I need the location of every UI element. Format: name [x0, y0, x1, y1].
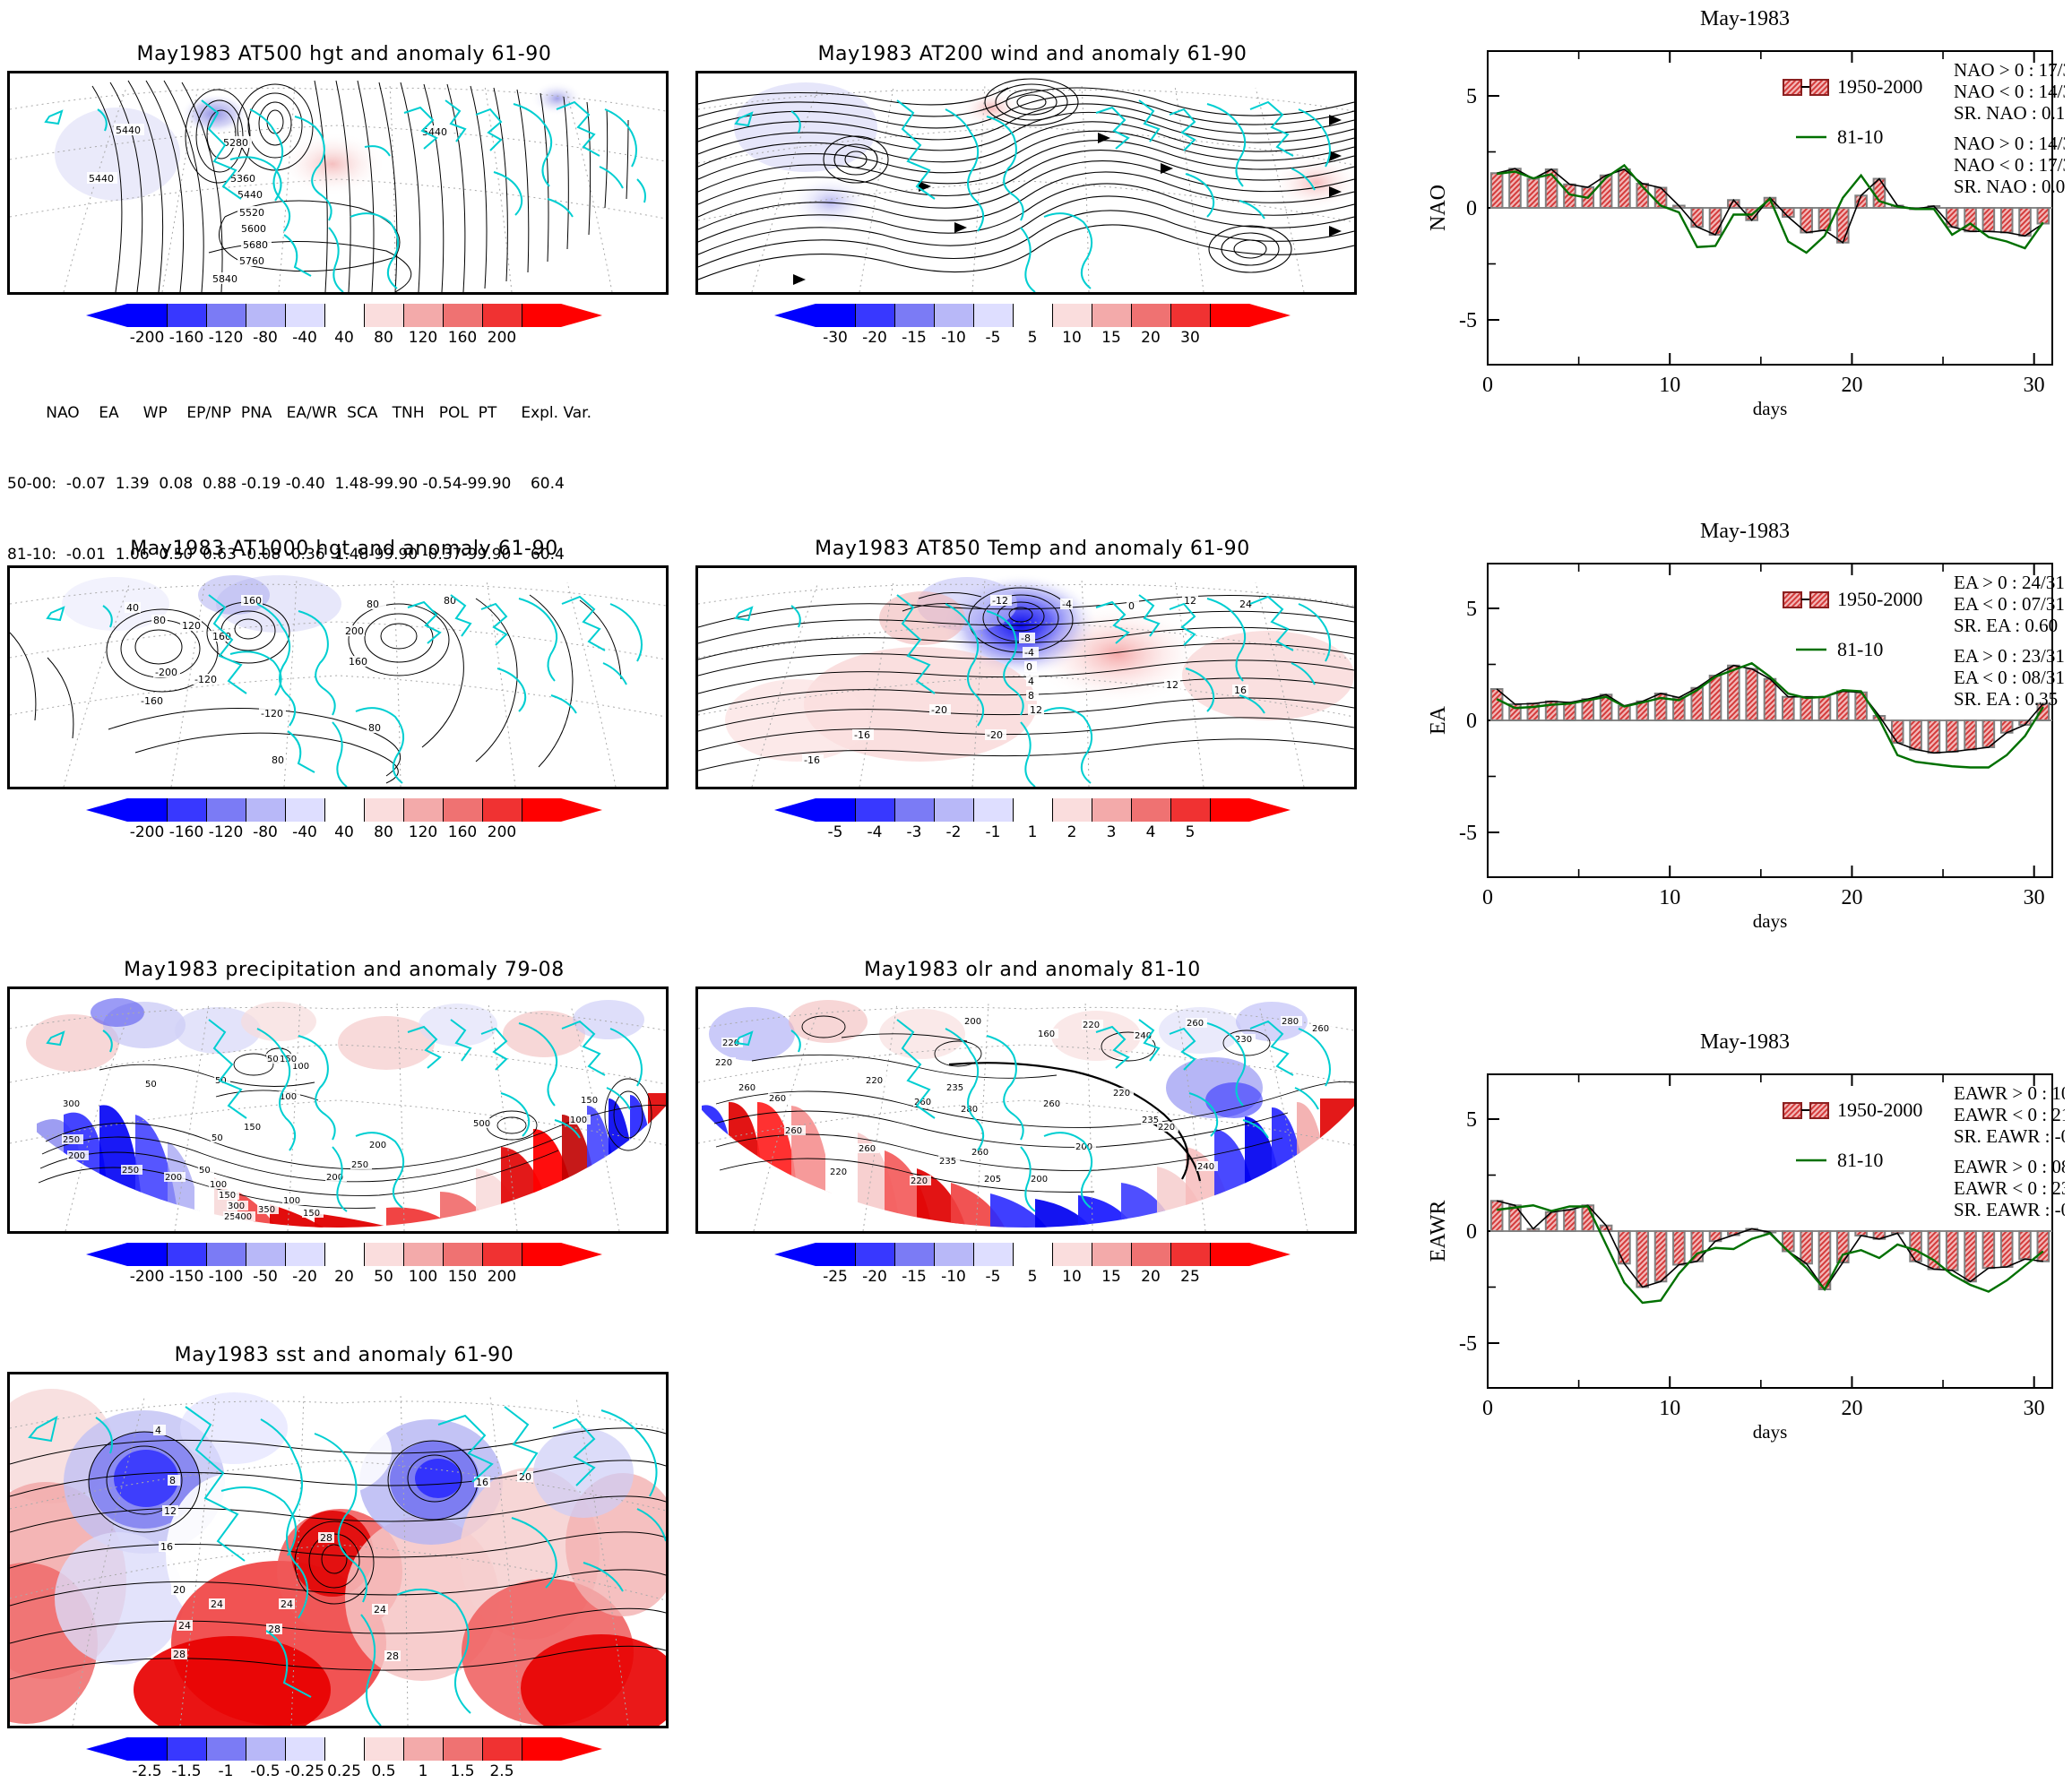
- colorbar-tick: 200: [482, 1268, 522, 1286]
- map-title-precip: May1983 precipitation and anomaly 79-08: [7, 959, 681, 981]
- svg-text:260: 260: [785, 1126, 802, 1136]
- colorbar-ticklabels-at1000: -200 -160 -120 -80 -40 40 80 120 160 200: [7, 823, 681, 841]
- svg-text:200: 200: [964, 1017, 981, 1027]
- svg-text:24: 24: [211, 1598, 223, 1610]
- colorbar-tick: -5: [816, 823, 855, 841]
- legend-bar-label: 1950-2000: [1837, 588, 1922, 610]
- report-page: May1983 AT500 hgt and anomaly 61-90: [0, 0, 2072, 1792]
- map-panel-sst: May1983 sst and anomaly 61-90: [7, 1344, 681, 1780]
- colorbar-tick: 5: [1170, 823, 1210, 841]
- colorbar-tick: -15: [894, 329, 934, 347]
- stats-header-row: NAO EA WP EP/NP PNA EA/WR SCA TNH POL PT…: [7, 401, 681, 425]
- svg-text:5440: 5440: [116, 125, 141, 136]
- svg-text:200: 200: [68, 1151, 85, 1161]
- x-axis-label: days: [1753, 910, 1788, 932]
- legend-line-label: 81-10: [1837, 1149, 1883, 1171]
- map-graphic-at200: [698, 73, 1354, 292]
- legend-stat-line: SR. EA : 0.35: [1954, 688, 2058, 710]
- bar: [1837, 208, 1849, 243]
- svg-text:200: 200: [345, 625, 364, 637]
- x-tick-label: 10: [1659, 374, 1680, 397]
- bar: [1619, 169, 1630, 208]
- svg-text:200: 200: [165, 1173, 182, 1183]
- colorbar-cells: [816, 798, 1249, 822]
- legend-stat-bar: EA < 0 : 07/31: [1954, 593, 2065, 615]
- svg-text:260: 260: [738, 1083, 755, 1093]
- svg-text:12: 12: [164, 1505, 177, 1517]
- colorbar-tick: -0.5: [246, 1762, 285, 1780]
- y-axis-label: NAO: [1427, 185, 1450, 231]
- chart-legend: 1950-200081-10EA > 0 : 24/31EA < 0 : 07/…: [1783, 572, 2065, 710]
- map-canvas-at1000[interactable]: 160 120 80 40 80 80 160 -200 -160 -120 -…: [7, 565, 669, 789]
- map-panel-at1000: May1983 AT1000 hgt and anomaly 61-90: [7, 538, 681, 841]
- bar: [1582, 699, 1593, 720]
- svg-text:260: 260: [1187, 1019, 1204, 1029]
- svg-text:28: 28: [320, 1532, 332, 1544]
- svg-text:-8: -8: [1021, 633, 1031, 644]
- colorbar-tick: 2.5: [482, 1762, 522, 1780]
- bar: [1800, 1231, 1812, 1263]
- svg-text:220: 220: [1113, 1089, 1130, 1098]
- svg-text:150: 150: [244, 1123, 261, 1133]
- map-panel-at500: May1983 AT500 hgt and anomaly 61-90: [7, 43, 681, 614]
- colorbar-tick: -160: [167, 329, 206, 347]
- y-axis-label: EA: [1427, 705, 1450, 735]
- svg-text:0: 0: [1026, 661, 1032, 673]
- x-tick-label: 10: [1659, 1397, 1680, 1420]
- colorbar-tick: 3: [1092, 823, 1131, 841]
- colorbar-tick: -200: [127, 329, 167, 347]
- svg-text:5440: 5440: [237, 189, 263, 201]
- map-title-at200: May1983 AT200 wind and anomaly 61-90: [695, 43, 1369, 65]
- svg-text:24: 24: [1239, 599, 1252, 610]
- colorbar-ticklabels-olr: -25 -20 -15 -10 -5 5 10 15 20 25: [695, 1268, 1369, 1286]
- svg-text:100: 100: [283, 1196, 300, 1206]
- legend-stat-bar: SR. NAO : 0.19: [1954, 102, 2065, 124]
- y-axis-label: EAWR: [1427, 1201, 1450, 1262]
- legend-stat-bar: NAO < 0 : 14/31: [1954, 81, 2065, 102]
- svg-text:-160: -160: [141, 695, 163, 707]
- map-canvas-at500[interactable]: 5280 5440 5440 5440 5360 5440 5520: [7, 71, 669, 295]
- bar: [1964, 1231, 1976, 1281]
- x-axis-label: days: [1753, 398, 1788, 419]
- colorbar-tick: -200: [127, 1268, 167, 1286]
- colorbar-tick: 150: [443, 1268, 482, 1286]
- colorbar-tick: -50: [246, 1268, 285, 1286]
- index-chart-svg-eawr: -5050102030daysEAWR1950-200081-10EAWR > …: [1425, 1060, 2065, 1454]
- index-chart-panel-ea: May-1983 -5050102030daysEA1950-200081-10…: [1425, 520, 2065, 943]
- colorbar-tick: 0.25: [324, 1762, 364, 1780]
- colorbar-tick: 120: [403, 329, 443, 347]
- svg-text:-20: -20: [987, 729, 1003, 741]
- svg-text:80: 80: [272, 754, 284, 766]
- colorbar-tick: 10: [1052, 329, 1092, 347]
- svg-text:50: 50: [199, 1166, 211, 1176]
- svg-text:4: 4: [155, 1425, 161, 1436]
- index-chart-eawr[interactable]: -5050102030daysEAWR1950-200081-10EAWR > …: [1425, 1060, 2065, 1454]
- svg-text:240: 240: [1197, 1162, 1214, 1172]
- bar: [1673, 1231, 1685, 1265]
- index-chart-panel-eawr: May-1983 -5050102030daysEAWR1950-200081-…: [1425, 1030, 2065, 1454]
- bar: [1601, 176, 1612, 208]
- svg-text:-16: -16: [854, 729, 870, 741]
- colorbar-olr: -25 -20 -15 -10 -5 5 10 15 20 25: [695, 1243, 1369, 1286]
- colorbar-tick: 25: [1170, 1268, 1210, 1286]
- bar: [1837, 692, 1849, 721]
- svg-text:40: 40: [126, 602, 139, 614]
- legend-stat-line: EAWR > 0 : 08/31: [1954, 1156, 2065, 1177]
- colorbar-tick: 20: [1131, 329, 1170, 347]
- legend-stat-line: NAO > 0 : 14/31: [1954, 133, 2065, 154]
- colorbar-tick: -40: [285, 823, 324, 841]
- svg-text:5280: 5280: [223, 137, 248, 149]
- x-tick-label: 30: [2024, 886, 2045, 909]
- colorbar-tick: -20: [855, 329, 894, 347]
- legend-bar-swatch: [1783, 592, 1801, 607]
- bar: [1564, 1210, 1576, 1231]
- colorbar-tick: 10: [1052, 1268, 1092, 1286]
- legend-bar-swatch: [1783, 80, 1801, 95]
- svg-text:100: 100: [210, 1180, 227, 1190]
- svg-text:5440: 5440: [89, 173, 114, 185]
- colorbar-tick: 160: [443, 329, 482, 347]
- map-canvas-olr[interactable]: 200 160 220 240 260 280 260 230 220 220 …: [695, 986, 1357, 1234]
- colorbar-tick: 50: [364, 1268, 403, 1286]
- svg-text:260: 260: [1312, 1024, 1329, 1034]
- colorbar-tick: 20: [1131, 1268, 1170, 1286]
- legend-stat-line: EAWR < 0 : 23/31: [1954, 1177, 2065, 1199]
- colorbar-tick: 40: [324, 823, 364, 841]
- legend-stat-line: SR. EAWR : -0.53: [1954, 1199, 2065, 1220]
- colorbar-ticklabels-sst: -2.5 -1.5 -1 -0.5 -0.25 0.25 0.5 1 1.5 2…: [7, 1762, 681, 1780]
- map-canvas-at200[interactable]: [695, 71, 1357, 295]
- svg-text:150: 150: [303, 1209, 320, 1219]
- y-tick-label: -5: [1459, 1332, 1477, 1356]
- bar: [1765, 679, 1776, 720]
- colorbar-tick: 200: [482, 329, 522, 347]
- map-graphic-at1000: 160 120 80 40 80 80 160 -200 -160 -120 -…: [10, 568, 666, 787]
- legend-stat-bar: NAO > 0 : 17/31: [1954, 59, 2065, 81]
- svg-text:-4: -4: [1024, 647, 1034, 659]
- legend-stat-line: NAO < 0 : 17/31: [1954, 154, 2065, 176]
- colorbar-tick: -1: [973, 823, 1013, 841]
- map-panel-at850: May1983 AT850 Temp and anomaly 61-90: [695, 538, 1369, 841]
- svg-text:50: 50: [212, 1133, 223, 1143]
- legend-line-label: 81-10: [1837, 638, 1883, 660]
- index-chart-nao[interactable]: -5050102030daysNAO1950-200081-10NAO > 0 …: [1425, 37, 2065, 431]
- bar: [1983, 1231, 1995, 1268]
- colorbar-tick: 40: [324, 329, 364, 347]
- x-tick-label: 10: [1659, 886, 1680, 909]
- map-panel-olr: May1983 olr and anomaly 81-10: [695, 959, 1369, 1286]
- colorbar-sst: -2.5 -1.5 -1 -0.5 -0.25 0.25 0.5 1 1.5 2…: [7, 1737, 681, 1780]
- colorbar-cells: [127, 304, 561, 327]
- legend-stat-bar: EAWR < 0 : 21/31: [1954, 1104, 2065, 1125]
- bar: [1528, 179, 1540, 209]
- colorbar-tick: -2: [934, 823, 973, 841]
- svg-text:16: 16: [160, 1541, 173, 1553]
- map-graphic-at850: -12 -8 -4 0 4 8 12 -4 0 12 24 12 16 -20: [698, 568, 1354, 787]
- svg-text:5680: 5680: [243, 239, 268, 251]
- colorbar-right-arrow: [561, 304, 602, 327]
- svg-text:250: 250: [122, 1166, 139, 1176]
- x-tick-label: 30: [2024, 374, 2045, 397]
- colorbar-tick: -160: [167, 823, 206, 841]
- bar: [1947, 1231, 1958, 1271]
- map-graphic-at500: 5280 5440 5440 5440 5360 5440 5520: [10, 73, 666, 292]
- colorbar-tick: -5: [973, 1268, 1013, 1286]
- legend-stat-bar: EA > 0 : 24/31: [1954, 572, 2065, 593]
- svg-text:16: 16: [476, 1477, 488, 1488]
- y-tick-label: -5: [1459, 309, 1477, 332]
- legend-stat-bar: SR. EA : 0.60: [1954, 615, 2058, 636]
- svg-text:5760: 5760: [239, 255, 264, 267]
- bar: [2001, 208, 2013, 233]
- x-tick-label: 0: [1482, 374, 1493, 397]
- svg-text:300: 300: [228, 1202, 245, 1211]
- colorbar-tick: 200: [482, 823, 522, 841]
- y-tick-label: 5: [1466, 85, 1477, 108]
- svg-text:500: 500: [473, 1119, 490, 1129]
- bar: [2019, 208, 2031, 236]
- svg-text:-120: -120: [194, 674, 217, 685]
- map-panel-precip: May1983 precipitation and anomaly 79-08: [7, 959, 681, 1286]
- y-tick-label: 5: [1466, 1108, 1477, 1132]
- bar: [1783, 697, 1794, 720]
- svg-text:-120: -120: [261, 708, 283, 719]
- svg-text:300: 300: [63, 1099, 80, 1109]
- colorbar-tick: -150: [167, 1268, 206, 1286]
- colorbar-tick: 80: [364, 823, 403, 841]
- bar: [1564, 702, 1576, 720]
- x-tick-label: 0: [1482, 1397, 1493, 1420]
- colorbar-tick: -0.25: [285, 1762, 324, 1780]
- map-title-sst: May1983 sst and anomaly 61-90: [7, 1344, 681, 1366]
- svg-text:16: 16: [1234, 685, 1247, 696]
- map-title-at500: May1983 AT500 hgt and anomaly 61-90: [7, 43, 681, 65]
- svg-text:12: 12: [1166, 679, 1178, 691]
- svg-text:220: 220: [830, 1167, 847, 1177]
- bar: [1929, 720, 1940, 753]
- colorbar-tick: 15: [1092, 329, 1131, 347]
- svg-text:0: 0: [1128, 600, 1135, 612]
- colorbar-tick: -120: [206, 329, 246, 347]
- colorbar-tick: 0.5: [364, 1762, 403, 1780]
- colorbar-tick: 120: [403, 823, 443, 841]
- svg-text:80: 80: [368, 722, 381, 734]
- svg-text:12: 12: [1030, 704, 1042, 716]
- svg-text:260: 260: [859, 1144, 876, 1154]
- svg-text:28: 28: [173, 1649, 186, 1660]
- bar: [1491, 173, 1503, 208]
- svg-text:260: 260: [971, 1148, 989, 1158]
- map-canvas-at850[interactable]: -12 -8 -4 0 4 8 12 -4 0 12 24 12 16 -20: [695, 565, 1357, 789]
- svg-text:220: 220: [866, 1076, 883, 1086]
- bar: [1800, 697, 1812, 720]
- svg-text:200: 200: [1031, 1175, 1048, 1185]
- colorbar-tick: 5: [1013, 1268, 1052, 1286]
- map-title-at1000: May1983 AT1000 hgt and anomaly 61-90: [7, 538, 681, 560]
- colorbar-at500: -200 -160 -120 -80 -40 40 80 120 160 200: [7, 304, 681, 347]
- index-chart-title-nao: May-1983: [1425, 7, 2065, 31]
- colorbar-tick: 160: [443, 823, 482, 841]
- colorbar-tick: -80: [246, 823, 285, 841]
- map-canvas-sst[interactable]: 4 8 12 16 20 24 24 28 28 24 24 28 16 20: [7, 1372, 669, 1728]
- map-graphic-precip: 50 50 100 100 150 50 50 300 250 200 250 …: [10, 989, 666, 1231]
- bar: [1491, 689, 1503, 720]
- stats-row-5000: 50-00: -0.07 1.39 0.08 0.88 -0.19 -0.40 …: [7, 472, 681, 495]
- index-chart-title-ea: May-1983: [1425, 520, 2065, 544]
- bar: [1636, 1231, 1648, 1288]
- svg-text:220: 220: [715, 1058, 732, 1068]
- colorbar-tick: -40: [285, 329, 324, 347]
- svg-text:150: 150: [219, 1191, 236, 1201]
- svg-text:120: 120: [182, 620, 201, 632]
- chart-legend: 1950-200081-10NAO > 0 : 17/31NAO < 0 : 1…: [1783, 59, 2065, 197]
- colorbar-tick: 1.5: [443, 1762, 482, 1780]
- svg-text:50: 50: [145, 1080, 157, 1090]
- colorbar-tick: -3: [894, 823, 934, 841]
- map-title-at850: May1983 AT850 Temp and anomaly 61-90: [695, 538, 1369, 560]
- colorbar-cells: [816, 304, 1249, 327]
- svg-text:24: 24: [178, 1620, 191, 1632]
- svg-text:250: 250: [351, 1160, 368, 1170]
- colorbar-tick: -10: [934, 329, 973, 347]
- bar: [1964, 208, 1976, 231]
- colorbar-tick: -20: [285, 1268, 324, 1286]
- map-title-olr: May1983 olr and anomaly 81-10: [695, 959, 1369, 981]
- bar: [1947, 720, 1958, 752]
- y-tick-label: -5: [1459, 822, 1477, 845]
- bar: [2038, 208, 2050, 224]
- svg-text:160: 160: [1038, 1030, 1055, 1039]
- colorbar-tick: -10: [934, 1268, 973, 1286]
- colorbar-cells: [816, 1243, 1249, 1266]
- colorbar-ticklabels-at500: -200 -160 -120 -80 -40 40 80 120 160 200: [7, 329, 681, 347]
- bar: [1910, 1231, 1921, 1262]
- colorbar-at200: -30 -20 -15 -10 -5 5 10 15 20 30: [695, 304, 1369, 347]
- colorbar-left-arrow: [86, 304, 127, 327]
- index-chart-title-eawr: May-1983: [1425, 1030, 2065, 1055]
- colorbar-tick: -2.5: [127, 1762, 167, 1780]
- colorbar-precip: -200 -150 -100 -50 -20 20 50 100 150 200: [7, 1243, 681, 1286]
- svg-text:-20: -20: [931, 704, 947, 716]
- index-chart-svg-nao: -5050102030daysNAO1950-200081-10NAO > 0 …: [1425, 37, 2065, 431]
- colorbar-tick: -120: [206, 823, 246, 841]
- x-tick-label: 20: [1841, 886, 1862, 909]
- svg-text:235: 235: [939, 1157, 956, 1167]
- legend-line-label: 81-10: [1837, 125, 1883, 148]
- colorbar-tick: -200: [127, 823, 167, 841]
- bar: [1746, 669, 1757, 721]
- legend-stat-bar: SR. EAWR : -0.65: [1954, 1125, 2065, 1147]
- colorbar-tick: -80: [246, 329, 285, 347]
- bar: [1710, 208, 1722, 235]
- y-tick-label: 5: [1466, 598, 1477, 621]
- bar: [1947, 208, 1958, 227]
- svg-text:260: 260: [1043, 1099, 1060, 1109]
- svg-text:205: 205: [984, 1175, 1001, 1185]
- index-chart-panel-nao: May-1983 -5050102030daysNAO1950-200081-1…: [1425, 7, 2065, 431]
- map-graphic-olr: 200 160 220 240 260 280 260 230 220 220 …: [698, 989, 1354, 1231]
- colorbar-at1000: -200 -160 -120 -80 -40 40 80 120 160 200: [7, 798, 681, 841]
- map-panel-at200: May1983 AT200 wind and anomaly 61-90: [695, 43, 1369, 347]
- colorbar-ticklabels-at200: -30 -20 -15 -10 -5 5 10 15 20 30: [695, 329, 1369, 347]
- svg-text:80: 80: [153, 615, 166, 626]
- x-axis-label: days: [1753, 1421, 1788, 1443]
- x-tick-label: 0: [1482, 886, 1493, 909]
- bar: [1655, 1231, 1667, 1281]
- colorbar-tick: 80: [364, 329, 403, 347]
- legend-bar-swatch: [1783, 1103, 1801, 1118]
- index-chart-svg-ea: -5050102030daysEA1950-200081-10EA > 0 : …: [1425, 549, 2065, 943]
- svg-text:400: 400: [235, 1212, 252, 1222]
- svg-text:5600: 5600: [241, 223, 266, 235]
- colorbar-tick: 5: [1013, 329, 1052, 347]
- bar: [1619, 1231, 1630, 1263]
- svg-text:8: 8: [1028, 690, 1034, 702]
- bar: [1910, 720, 1921, 750]
- index-chart-ea[interactable]: -5050102030daysEA1950-200081-10EA > 0 : …: [1425, 549, 2065, 943]
- colorbar-tick: -1.5: [167, 1762, 206, 1780]
- bar: [1509, 1205, 1521, 1231]
- bar: [2038, 1231, 2050, 1262]
- colorbar-tick: -1: [206, 1762, 246, 1780]
- svg-text:280: 280: [1282, 1017, 1299, 1027]
- legend-stat-line: SR. NAO : 0.06: [1954, 176, 2065, 197]
- svg-text:4: 4: [1028, 676, 1034, 687]
- svg-text:80: 80: [367, 599, 379, 610]
- bar: [1892, 720, 1904, 743]
- svg-text:5360: 5360: [230, 173, 255, 185]
- svg-text:-16: -16: [804, 754, 820, 766]
- svg-text:50: 50: [267, 1055, 279, 1064]
- y-tick-label: 0: [1466, 197, 1477, 220]
- bar: [1983, 208, 1995, 231]
- svg-text:-4: -4: [1062, 599, 1072, 610]
- legend-bar-label: 1950-2000: [1837, 1098, 1922, 1121]
- svg-text:160: 160: [349, 656, 367, 668]
- colorbar-ticklabels-precip: -200 -150 -100 -50 -20 20 50 100 150 200: [7, 1268, 681, 1286]
- bar: [1710, 676, 1722, 720]
- bar: [2019, 1231, 2031, 1259]
- svg-text:8: 8: [169, 1475, 176, 1486]
- svg-text:220: 220: [1083, 1021, 1100, 1030]
- colorbar-tick: -15: [894, 1268, 934, 1286]
- svg-text:350: 350: [258, 1205, 275, 1215]
- colorbar-tick: 30: [1170, 329, 1210, 347]
- svg-text:20: 20: [173, 1584, 186, 1596]
- map-canvas-precip[interactable]: 50 50 100 100 150 50 50 300 250 200 250 …: [7, 986, 669, 1234]
- colorbar-ticklabels-at850: -5 -4 -3 -2 -1 1 2 3 4 5: [695, 823, 1369, 841]
- svg-text:220: 220: [1158, 1123, 1175, 1133]
- svg-text:150: 150: [581, 1096, 598, 1106]
- chart-legend: 1950-200081-10EAWR > 0 : 10/31EAWR < 0 :…: [1783, 1082, 2065, 1220]
- bar: [1728, 666, 1740, 720]
- svg-text:220: 220: [911, 1176, 928, 1186]
- colorbar-tick: -4: [855, 823, 894, 841]
- y-tick-label: 0: [1466, 1220, 1477, 1244]
- colorbar-tick: 100: [403, 1268, 443, 1286]
- colorbar-tick: -100: [206, 1268, 246, 1286]
- legend-stat-bar: EAWR > 0 : 10/31: [1954, 1082, 2065, 1104]
- svg-text:24: 24: [374, 1604, 386, 1615]
- colorbar-tick: 1: [1013, 823, 1052, 841]
- bar: [1819, 697, 1831, 720]
- svg-text:20: 20: [519, 1471, 531, 1483]
- legend-stat-line: EA < 0 : 08/31: [1954, 667, 2065, 688]
- x-tick-label: 20: [1841, 1397, 1862, 1420]
